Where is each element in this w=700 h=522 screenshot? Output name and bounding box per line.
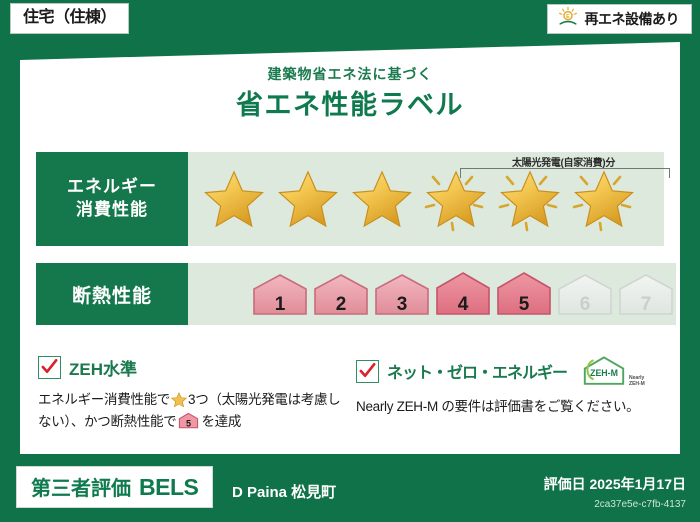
evaluation-id: 2ca37e5e-c7fb-4137	[594, 499, 686, 510]
star-rating	[188, 165, 640, 233]
renewable-label: 再エネ設備あり	[585, 12, 680, 26]
net-zero-description: Nearly ZEH-M の要件は評価書をご覧ください。	[356, 396, 676, 418]
insulation-performance-row: 断熱性能 1 2 3 4	[36, 263, 664, 325]
insulation-level-badge: 5	[494, 269, 554, 319]
zeh-standard-section: ZEH水準 エネルギー消費性能で3つ（太陽光発電は考慮しない）、かつ断熱性能で5…	[38, 355, 348, 433]
footer: 第三者評価 BELS D Paina 松見町 評価日 2025年1月17日 2c…	[0, 460, 700, 522]
insulation-level-badge-inactive: 7	[616, 269, 676, 319]
building-type-label: 住宅（住棟）	[23, 9, 116, 26]
net-zero-header: ネット・ゼロ・エネルギー ZEH-M Nearly ZEH-M	[356, 355, 676, 387]
zeh-standard-checkbox[interactable]	[38, 356, 61, 379]
zeh-standard-header: ZEH水準	[38, 355, 348, 380]
star-solar	[568, 165, 640, 233]
insulation-level-badge: 3	[372, 269, 432, 319]
renewable-badge: E 再エネ設備あり	[547, 4, 693, 34]
net-zero-checkbox[interactable]	[356, 360, 379, 383]
building-type-badge: 住宅（住棟）	[10, 3, 129, 34]
building-name: D Paina 松見町	[232, 481, 336, 502]
bels-jp-label: 第三者評価	[31, 472, 131, 501]
insulation-level-badge: 2	[311, 269, 371, 319]
star-plain	[198, 165, 270, 233]
insulation-level-list: 1 2 3 4 5	[188, 269, 676, 319]
net-zero-title: ネット・ゼロ・エネルギー	[387, 359, 567, 383]
energy-stars-panel: 太陽光発電(自家消費)分	[188, 152, 664, 246]
energy-performance-label: エネルギー 消費性能	[36, 152, 188, 246]
label-subtitle: 建築物省エネ法に基づく	[0, 64, 700, 84]
sun-renewable-icon: E	[557, 6, 579, 33]
energy-performance-row: エネルギー 消費性能 太陽光発電(自家消費)分	[36, 152, 664, 246]
zeh-standard-description: エネルギー消費性能で3つ（太陽光発電は考慮しない）、かつ断熱性能で5を達成	[38, 389, 348, 433]
page-title: 省エネ性能ラベル	[0, 83, 700, 122]
zehm-logo-sub: Nearly ZEH-M	[629, 375, 645, 388]
net-zero-energy-section: ネット・ゼロ・エネルギー ZEH-M Nearly ZEH-M Nearly Z…	[356, 355, 676, 418]
insulation-level-badge: 1	[250, 269, 310, 319]
zeh-standard-title: ZEH水準	[69, 355, 137, 380]
svg-text:5: 5	[186, 419, 191, 429]
bels-badge: 第三者評価 BELS	[16, 466, 213, 508]
svg-text:ZEH-M: ZEH-M	[590, 368, 618, 378]
insulation-badge-inline-icon: 5	[178, 412, 199, 429]
star-solar	[494, 165, 566, 233]
star-plain	[346, 165, 418, 233]
insulation-level-badge-inactive: 6	[555, 269, 615, 319]
star-solar	[420, 165, 492, 233]
insulation-levels-panel: 1 2 3 4 5	[188, 263, 676, 325]
evaluation-date: 評価日 2025年1月17日	[544, 474, 686, 494]
gold-star-icon	[171, 392, 187, 407]
svg-text:E: E	[566, 13, 570, 19]
insulation-level-badge: 4	[433, 269, 493, 319]
star-plain	[272, 165, 344, 233]
zehm-logo: ZEH-M Nearly ZEH-M	[581, 355, 645, 387]
bels-en-label: BELS	[139, 474, 198, 501]
insulation-performance-label: 断熱性能	[36, 263, 188, 325]
energy-label-root: 住宅（住棟） E 再エネ設備あり 建築物省エネ法に基づく 省エネ性能ラベル	[0, 0, 700, 522]
